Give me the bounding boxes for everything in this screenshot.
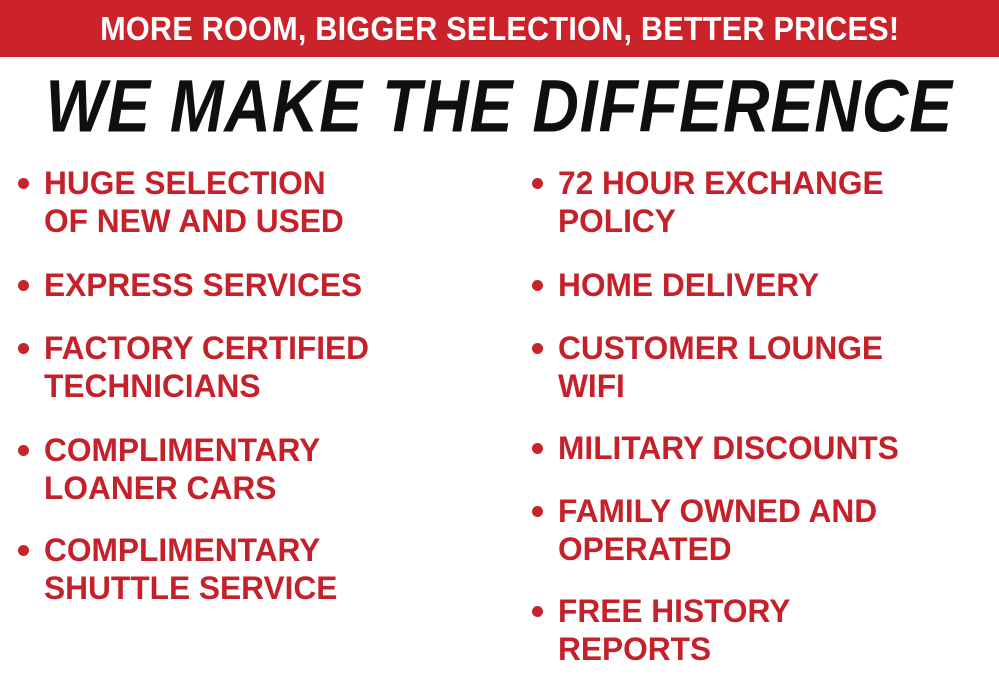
list-item: 72 HOUR EXCHANGE POLICY	[532, 164, 997, 240]
list-item-line1: CUSTOMER LOUNGE	[558, 330, 883, 366]
bullet-dot-icon	[18, 545, 29, 556]
list-item-line2: POLICY	[558, 203, 676, 239]
list-item-line1: FAMILY OWNED AND	[558, 493, 877, 529]
features-column-left: HUGE SELECTION OF NEW AND USED EXPRESS S…	[0, 158, 512, 607]
list-item: HUGE SELECTION OF NEW AND USED	[18, 164, 508, 240]
banner-headline-text: MORE ROOM, BIGGER SELECTION, BETTER PRIC…	[100, 12, 899, 45]
top-banner: MORE ROOM, BIGGER SELECTION, BETTER PRIC…	[0, 0, 999, 57]
list-item-line1: 72 HOUR EXCHANGE	[558, 165, 884, 201]
list-item-label: COMPLIMENTARY LOANER CARS	[44, 431, 503, 507]
list-item: EXPRESS SERVICES	[18, 266, 508, 304]
list-item-label: EXPRESS SERVICES	[44, 266, 503, 304]
list-item: MILITARY DISCOUNTS	[532, 429, 997, 467]
list-item-line2: REPORTS	[558, 631, 711, 667]
list-item-line1: COMPLIMENTARY	[44, 432, 320, 468]
list-item: COMPLIMENTARY SHUTTLE SERVICE	[18, 531, 508, 607]
features-column-right: 72 HOUR EXCHANGE POLICY HOME DELIVERY CU…	[512, 158, 999, 668]
promo-poster: MORE ROOM, BIGGER SELECTION, BETTER PRIC…	[0, 0, 999, 692]
page-title: WE MAKE THE DIFFERENCE	[46, 69, 954, 143]
list-item-label: CUSTOMER LOUNGE WIFI	[558, 329, 993, 405]
bullet-dot-icon	[532, 178, 543, 189]
list-item: CUSTOMER LOUNGE WIFI	[532, 329, 997, 405]
list-item-line2: WIFI	[558, 368, 625, 404]
bullet-dot-icon	[18, 343, 29, 354]
list-item-line1: COMPLIMENTARY	[44, 532, 320, 568]
list-item: FREE HISTORY REPORTS	[532, 592, 997, 668]
list-item-label: COMPLIMENTARY SHUTTLE SERVICE	[44, 531, 503, 607]
list-item-line2: SHUTTLE SERVICE	[44, 570, 337, 606]
bullet-dot-icon	[18, 178, 29, 189]
list-item-line1: HOME DELIVERY	[558, 267, 819, 303]
list-item-line1: HUGE SELECTION	[44, 165, 326, 201]
bullet-dot-icon	[532, 443, 543, 454]
list-item-label: 72 HOUR EXCHANGE POLICY	[558, 164, 993, 240]
list-item-label: FREE HISTORY REPORTS	[558, 592, 993, 668]
list-item: FAMILY OWNED AND OPERATED	[532, 492, 997, 568]
list-item-line2: OPERATED	[558, 531, 732, 567]
bullet-dot-icon	[18, 280, 29, 291]
features-columns: HUGE SELECTION OF NEW AND USED EXPRESS S…	[0, 158, 999, 692]
list-item: FACTORY CERTIFIED TECHNICIANS	[18, 329, 508, 405]
list-item-label: FACTORY CERTIFIED TECHNICIANS	[44, 329, 503, 405]
list-item-label: HOME DELIVERY	[558, 266, 993, 304]
headline-container: WE MAKE THE DIFFERENCE	[0, 62, 999, 150]
list-item: HOME DELIVERY	[532, 266, 997, 304]
bullet-dot-icon	[532, 506, 543, 517]
list-item-label: HUGE SELECTION OF NEW AND USED	[44, 164, 503, 240]
list-item: COMPLIMENTARY LOANER CARS	[18, 431, 508, 507]
list-item-line1: MILITARY DISCOUNTS	[558, 430, 899, 466]
list-item-line1: EXPRESS SERVICES	[44, 267, 362, 303]
bullet-dot-icon	[532, 343, 543, 354]
bullet-dot-icon	[532, 606, 543, 617]
list-item-line2: LOANER CARS	[44, 470, 276, 506]
list-item-line1: FREE HISTORY	[558, 593, 790, 629]
bullet-dot-icon	[532, 280, 543, 291]
list-item-label: MILITARY DISCOUNTS	[558, 429, 993, 467]
list-item-line2: TECHNICIANS	[44, 368, 260, 404]
list-item-line1: FACTORY CERTIFIED	[44, 330, 369, 366]
list-item-label: FAMILY OWNED AND OPERATED	[558, 492, 993, 568]
bullet-dot-icon	[18, 445, 29, 456]
list-item-line2: OF NEW AND USED	[44, 203, 344, 239]
